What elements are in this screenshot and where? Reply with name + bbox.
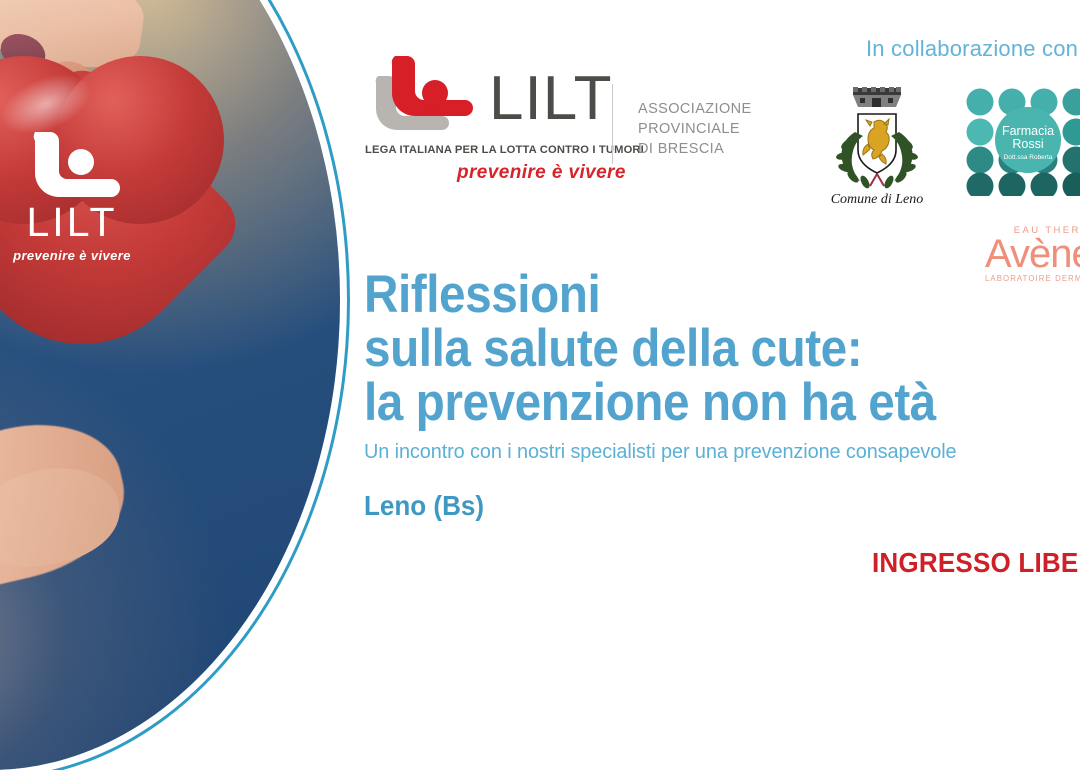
lilt-association-text: ASSOCIAZIONE PROVINCIALE DI BRESCIA	[638, 99, 752, 159]
lilt-figure-icon	[365, 52, 483, 140]
event-location: Leno (Bs)	[364, 490, 484, 522]
comune-di-leno-logo: Comune di Leno	[818, 82, 936, 208]
coat-of-arms-lion-crest-icon	[825, 82, 929, 190]
association-line-3: DI BRESCIA	[638, 139, 752, 159]
heart-lilt-logo: LILT prevenire è vivere	[0, 128, 152, 263]
association-line-2: PROVINCIALE	[638, 119, 752, 139]
svg-text:Farmacia: Farmacia	[1002, 124, 1054, 138]
avene-wordmark: Avène	[985, 236, 1080, 273]
lilt-wordmark: LILT	[489, 74, 612, 125]
event-title-line-2: sulla salute della cute:	[364, 322, 936, 376]
logo-divider	[612, 84, 613, 164]
event-title: Riflessioni sulla salute della cute: la …	[364, 268, 936, 430]
event-title-line-3: la prevenzione non ha età	[364, 376, 936, 430]
free-admission-badge: INGRESSO LIBERO	[872, 547, 1080, 579]
event-subtitle: Un incontro con i nostri specialisti per…	[364, 440, 957, 464]
event-title-line-1: Riflessioni	[364, 268, 936, 322]
heart-lilt-tagline: prevenire è vivere	[0, 248, 152, 263]
comune-di-leno-caption: Comune di Leno	[818, 192, 936, 208]
association-line-1: ASSOCIAZIONE	[638, 99, 752, 119]
avene-bottom-text: LABORATOIRE DERMATOLOGIQUE	[985, 274, 1080, 283]
avene-logo: EAU THERMALE Avène LABORATOIRE DERMATOLO…	[985, 225, 1080, 283]
farmacia-rossi-logo: Farmacia Rossi Dott.ssa Roberta	[964, 88, 1080, 196]
heart-lilt-wordmark: LILT	[0, 202, 152, 243]
svg-text:Rossi: Rossi	[1012, 137, 1043, 151]
poster-content: LILT LEGA ITALIANA PER LA LOTTA CONTRO I…	[0, 0, 1080, 624]
lilt-subtitle: LEGA ITALIANA PER LA LOTTA CONTRO I TUMO…	[365, 144, 644, 156]
collaboration-label: In collaborazione con	[866, 36, 1078, 62]
lilt-tagline: prevenire è vivere	[457, 162, 644, 184]
lilt-figure-icon	[11, 128, 133, 198]
lilt-logo-lockup: LILT LEGA ITALIANA PER LA LOTTA CONTRO I…	[365, 52, 644, 184]
svg-text:Dott.ssa Roberta: Dott.ssa Roberta	[1004, 154, 1053, 161]
